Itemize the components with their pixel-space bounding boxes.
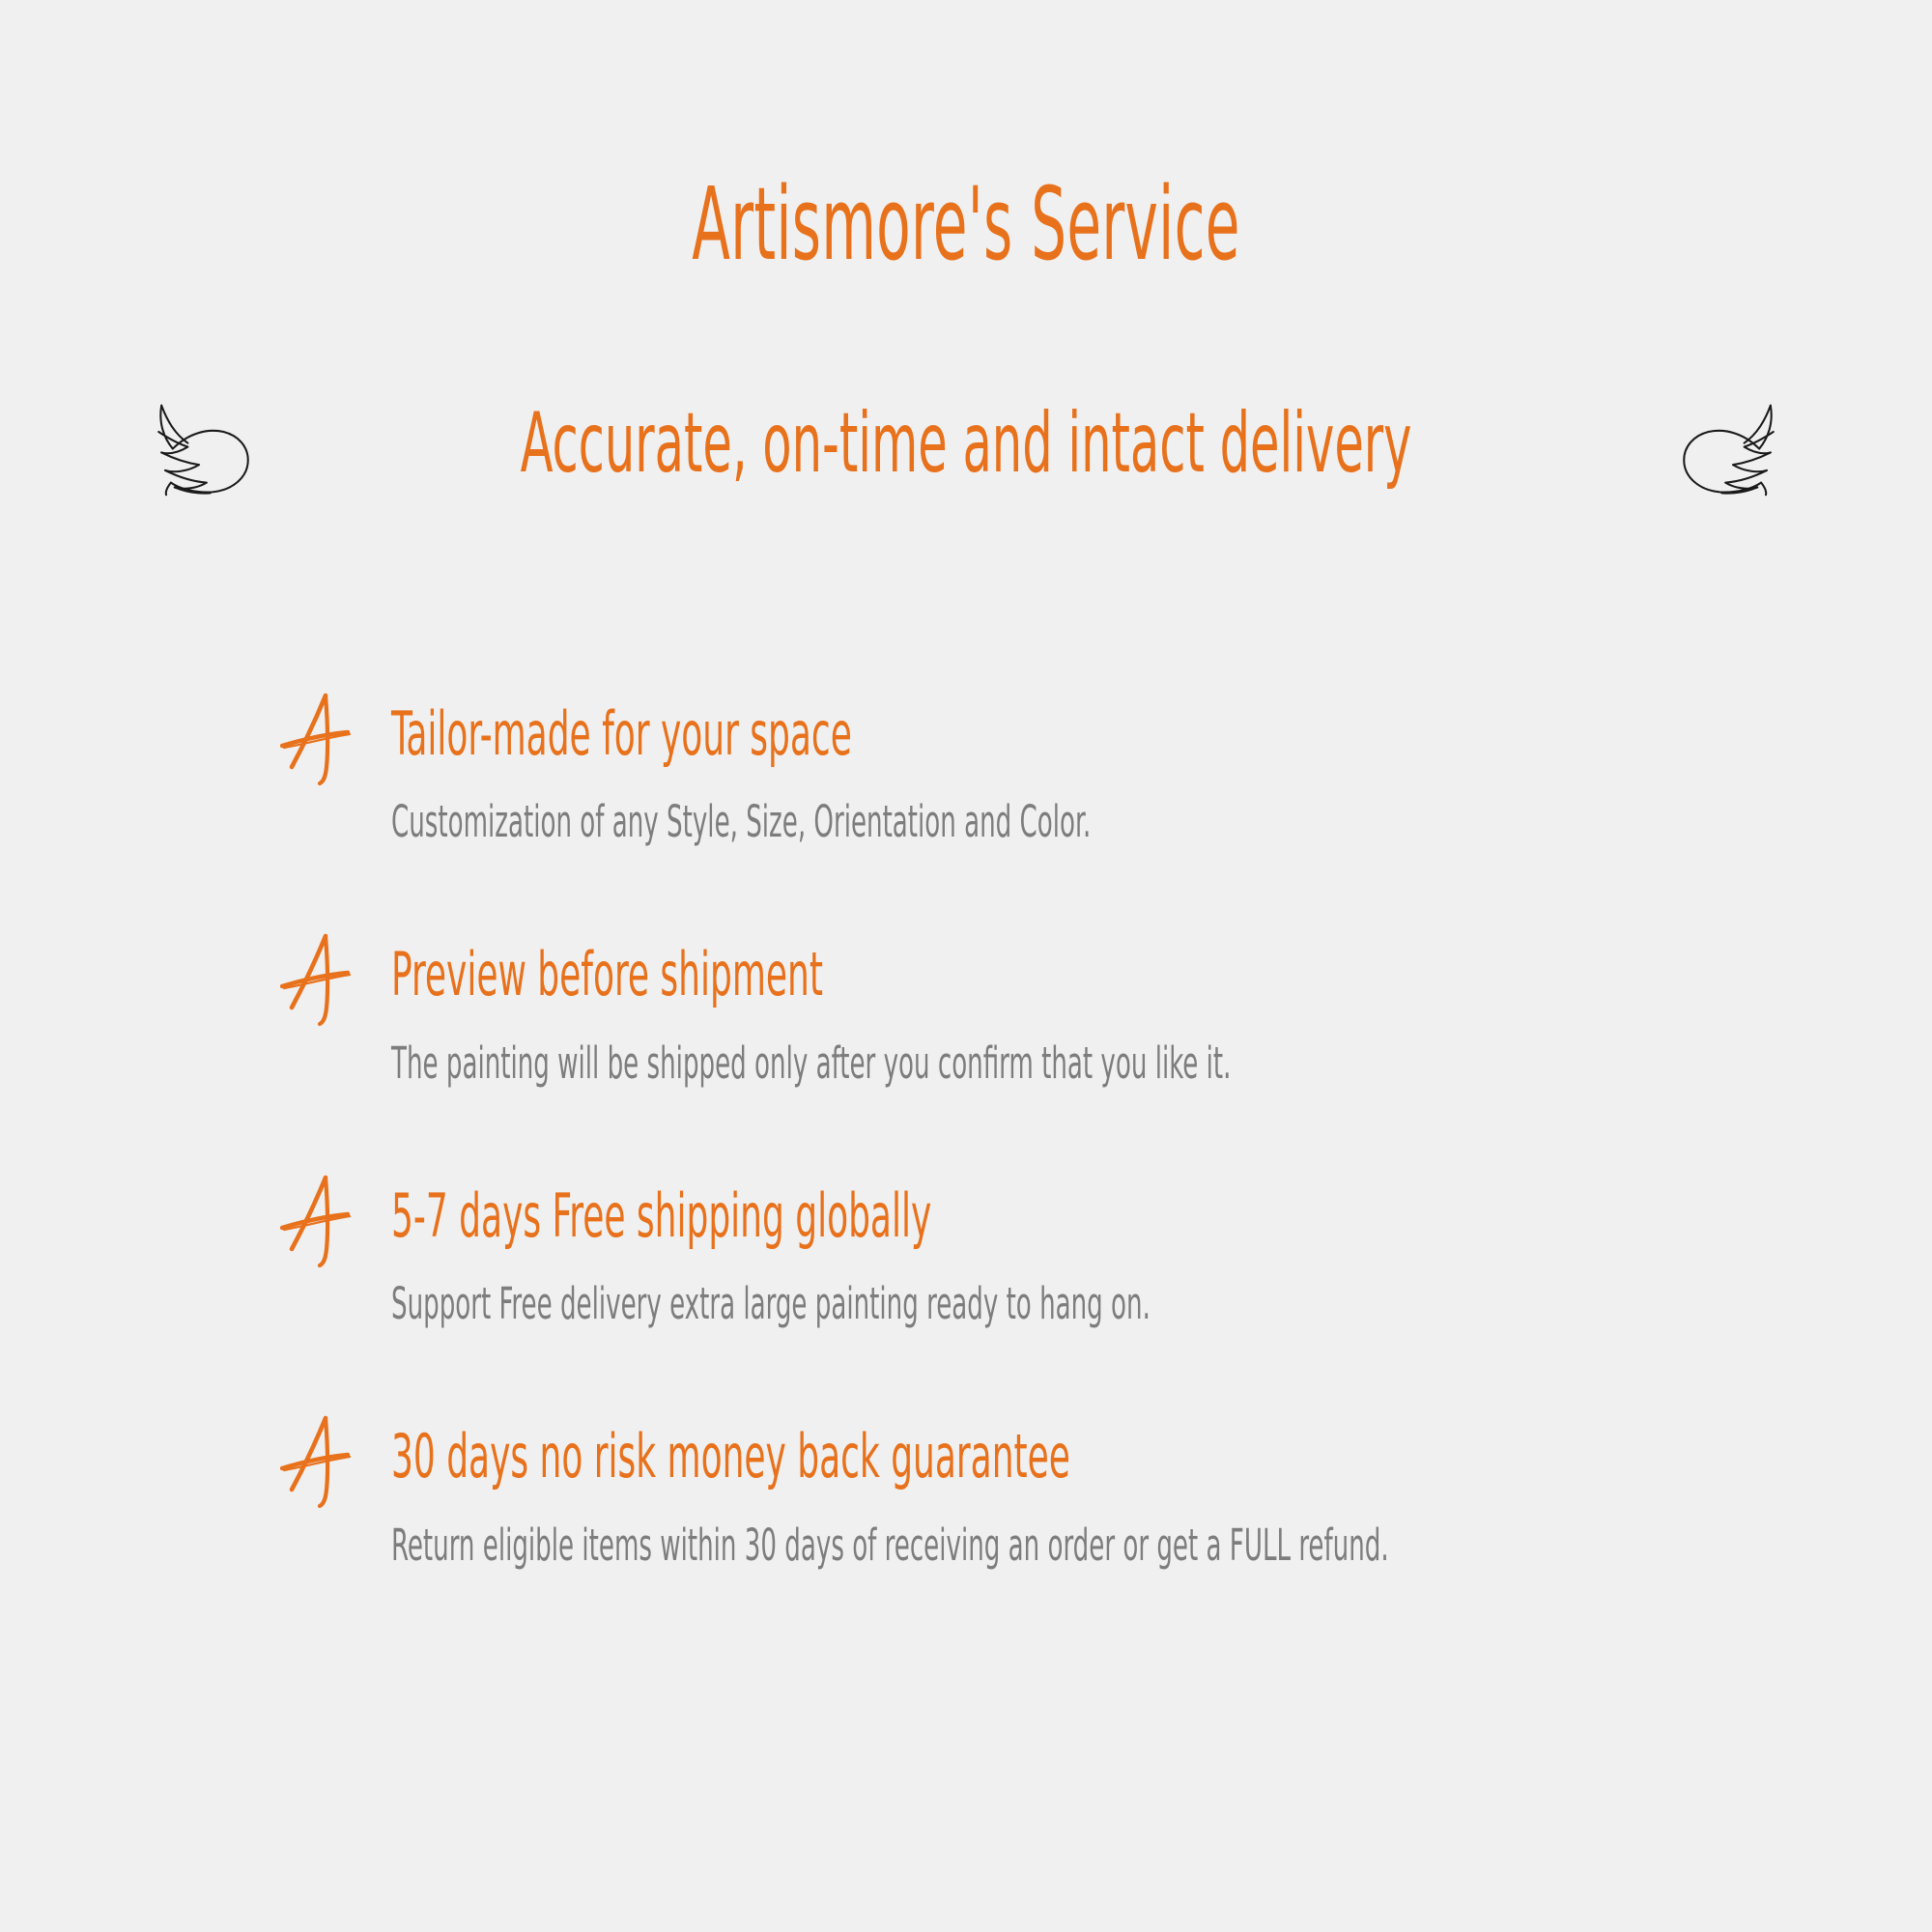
service-item-description: The painting will be shipped only after … (391, 1040, 1826, 1086)
service-item-body: Preview before shipment The painting wil… (280, 944, 1826, 1085)
handwritten-a-icon (280, 932, 361, 1029)
wing-icon (1672, 396, 1786, 504)
service-item: Tailor-made for your space Customization… (280, 703, 1826, 844)
handwritten-a-icon (280, 1414, 361, 1511)
service-item-title: Tailor-made for your space (391, 703, 1826, 764)
subtitle-text: Accurate, on-time and intact delivery (521, 402, 1412, 498)
page-title: Artismore's Service (367, 172, 1565, 277)
subtitle-banner: Accurate, on-time and intact delivery (0, 396, 1932, 504)
service-item-body: Tailor-made for your space Customization… (280, 703, 1826, 844)
header: Artismore's Service (0, 172, 1932, 277)
service-item-title: 30 days no risk money back guarantee (391, 1426, 1826, 1487)
service-item: Preview before shipment The painting wil… (280, 944, 1826, 1085)
handwritten-a-icon (280, 692, 361, 788)
service-info-page: Artismore's Service Accurate, on-time an… (0, 0, 1932, 1932)
service-item-description: Support Free delivery extra large painti… (391, 1281, 1826, 1326)
service-item: 30 days no risk money back guarantee Ret… (280, 1426, 1826, 1567)
service-item-description: Customization of any Style, Size, Orient… (391, 799, 1826, 844)
service-item-title: 5-7 days Free shipping globally (391, 1185, 1826, 1246)
service-item-description: Return eligible items within 30 days of … (391, 1522, 1826, 1568)
wing-icon (146, 396, 260, 504)
service-item-body: 30 days no risk money back guarantee Ret… (280, 1426, 1826, 1567)
service-list: Tailor-made for your space Customization… (280, 703, 1826, 1568)
service-item-body: 5-7 days Free shipping globally Support … (280, 1185, 1826, 1326)
service-item: 5-7 days Free shipping globally Support … (280, 1185, 1826, 1326)
service-item-title: Preview before shipment (391, 944, 1826, 1005)
handwritten-a-icon (280, 1174, 361, 1270)
